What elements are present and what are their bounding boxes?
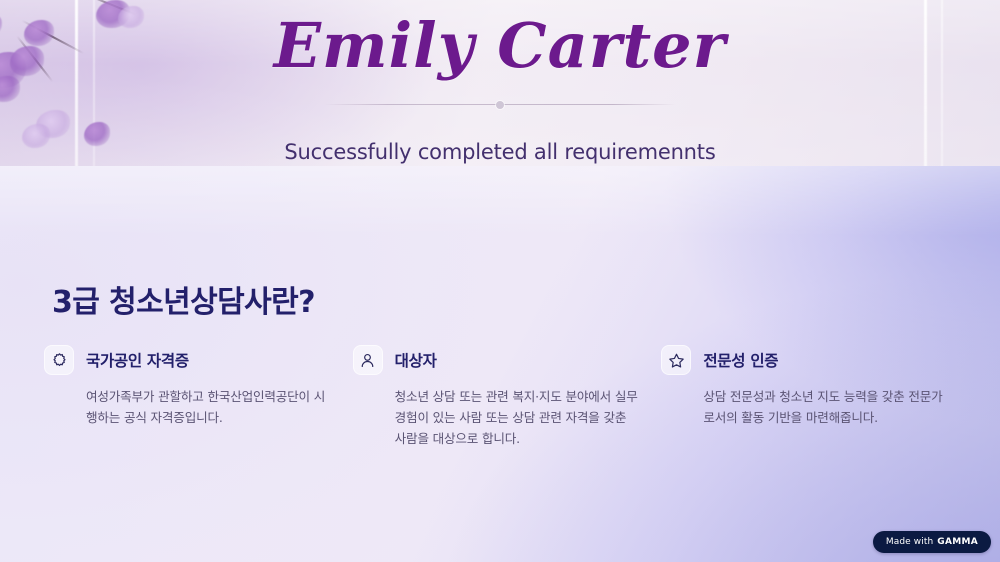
feature-header: 전문성 인증 [661,344,960,376]
certificate-divider [324,100,676,110]
feature-title: 국가공인 자격증 [86,349,189,371]
feature-title: 대상자 [395,349,437,371]
feature-description: 상담 전문성과 청소년 지도 능력을 갖춘 전문가로서의 활동 기반을 마련해줍… [703,386,949,428]
feature-card-expertise: 전문성 인증 상담 전문성과 청소년 지도 능력을 갖춘 전문가로서의 활동 기… [661,344,960,449]
feature-header: 대상자 [353,344,652,376]
divider-dot-icon [496,101,504,109]
gamma-badge-brand: GAMMA [937,537,978,547]
user-person-icon [353,345,383,375]
feature-description: 여성가족부가 관할하고 한국산업인력공단이 시행하는 공식 자격증입니다. [86,386,332,428]
feature-card-certification: 국가공인 자격증 여성가족부가 관할하고 한국산업인력공단이 시행하는 공식 자… [44,344,343,449]
feature-description: 청소년 상담 또는 관련 복지·지도 분야에서 실무 경험이 있는 사람 또는 … [395,386,641,449]
certificate-recipient-name: Emily Carter [0,4,1000,88]
slide-canvas: Emily Carter Successfully completed all … [0,0,1000,562]
content-panel: 3급 청소년상담사란? 국가공인 자격증 여성가족부가 관할하고 한국산업인력공… [0,166,1000,562]
certificate-subtitle: Successfully completed all requiremennts [0,140,1000,164]
certificate-banner-image: Emily Carter Successfully completed all … [0,0,1000,166]
panel-top-fade [0,166,1000,236]
feature-columns: 국가공인 자격증 여성가족부가 관할하고 한국산업인력공단이 시행하는 공식 자… [44,344,960,449]
award-seal-icon [44,345,74,375]
star-icon [661,345,691,375]
feature-header: 국가공인 자격증 [44,344,343,376]
feature-card-target-audience: 대상자 청소년 상담 또는 관련 복지·지도 분야에서 실무 경험이 있는 사람… [353,344,652,449]
page-title: 3급 청소년상담사란? [52,277,315,321]
made-with-gamma-badge[interactable]: Made with GAMMA [873,531,991,553]
gamma-badge-prefix: Made with [886,537,933,547]
feature-title: 전문성 인증 [703,349,778,371]
